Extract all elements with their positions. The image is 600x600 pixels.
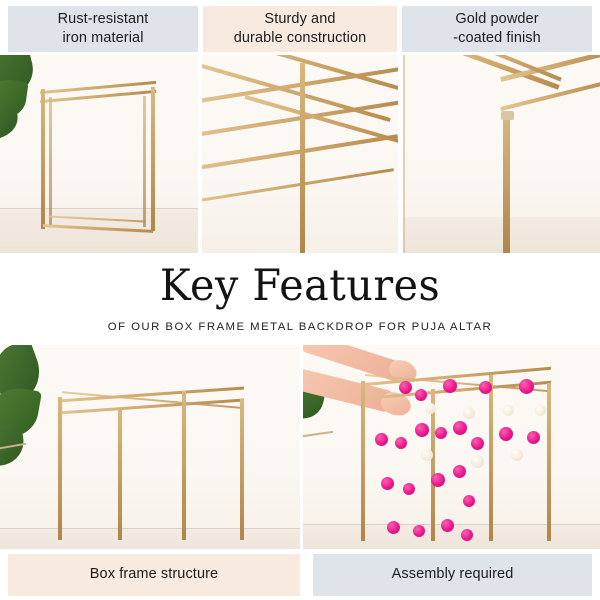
- caption-banner-sturdy-durable: Sturdy and durable construction: [203, 6, 397, 52]
- flower-bloom: [519, 379, 534, 394]
- corner-joint-cap: [501, 111, 514, 120]
- caption-text: Box frame structure: [90, 565, 218, 584]
- flower-bloom: [463, 495, 475, 507]
- frame-post: [151, 87, 155, 231]
- caption-line-2: -coated finish: [453, 29, 541, 48]
- caption-line-1: Sturdy and: [234, 10, 367, 29]
- flower-bloom: [413, 525, 425, 537]
- flower-bloom: [399, 381, 412, 394]
- caption-line-2: durable construction: [234, 29, 367, 48]
- title-block: Key Features OF OUR BOX FRAME METAL BACK…: [0, 253, 600, 345]
- frame-post: [489, 375, 493, 541]
- flower-bloom: [395, 437, 407, 449]
- infographic-page: Rust-resistant iron material Sturdy and …: [0, 0, 600, 600]
- caption-banner-box-frame-structure: Box frame structure: [8, 554, 300, 596]
- frame-post: [41, 89, 45, 229]
- flower-bloom: [403, 483, 415, 495]
- flower-bloom: [461, 529, 473, 541]
- photo-floor: [0, 529, 300, 549]
- frame-post: [118, 409, 122, 540]
- flower-bloom: [431, 473, 445, 487]
- photo-floor: [403, 217, 600, 253]
- flower-bloom: [415, 423, 429, 437]
- product-photo-grid-top: [202, 55, 398, 253]
- frame-post: [361, 381, 365, 541]
- product-photo-box-frame: [0, 345, 300, 549]
- frame-post: [143, 96, 146, 227]
- vertical-rod: [403, 245, 405, 253]
- page-subtitle: OF OUR BOX FRAME METAL BACKDROP FOR PUJA…: [108, 321, 492, 333]
- floor-edge-line: [0, 528, 300, 529]
- floor-edge-line: [0, 208, 198, 209]
- flower-bloom-white: [463, 407, 475, 419]
- flower-bloom: [415, 389, 427, 401]
- flower-bloom: [453, 421, 467, 435]
- caption-line-1: Rust-resistant: [58, 10, 149, 29]
- frame-post: [240, 399, 244, 540]
- flower-bloom-white: [425, 403, 436, 414]
- caption-line-2: iron material: [58, 29, 149, 48]
- flower-bloom-white: [471, 455, 484, 468]
- frame-post: [182, 391, 186, 540]
- flower-bloom: [453, 465, 466, 478]
- product-photo-frame-full: [0, 55, 198, 253]
- flower-bloom-white: [503, 405, 514, 416]
- caption-banner-assembly-required: Assembly required: [313, 554, 592, 596]
- caption-banner-gold-powder: Gold powder -coated finish: [402, 6, 592, 52]
- frame-post: [547, 383, 551, 541]
- caption-line-1: Gold powder: [453, 10, 541, 29]
- flower-bloom: [443, 379, 457, 393]
- product-photo-corner: [403, 55, 600, 253]
- caption-banner-rust-resistant: Rust-resistant iron material: [8, 6, 198, 52]
- flower-bloom: [381, 477, 394, 490]
- flower-bloom: [479, 381, 492, 394]
- flower-bloom-white: [421, 449, 433, 461]
- caption-text: Assembly required: [392, 565, 514, 584]
- photo-wall-background: [0, 345, 300, 549]
- frame-post: [58, 397, 62, 540]
- page-title: Key Features: [160, 265, 440, 308]
- flower-bloom: [471, 437, 484, 450]
- flower-bloom: [387, 521, 400, 534]
- flower-bloom: [527, 431, 540, 444]
- photo-floor: [0, 209, 198, 253]
- flower-bloom: [441, 519, 454, 532]
- flower-bloom: [435, 427, 447, 439]
- vertical-rod: [403, 55, 405, 245]
- center-post: [300, 63, 305, 253]
- frame-post: [49, 97, 52, 227]
- product-photo-assembly: [303, 345, 600, 549]
- corner-post: [503, 113, 510, 253]
- flower-bloom-white: [511, 449, 523, 461]
- flower-bloom: [375, 433, 388, 446]
- flower-bloom-white: [535, 405, 546, 416]
- flower-bloom: [499, 427, 513, 441]
